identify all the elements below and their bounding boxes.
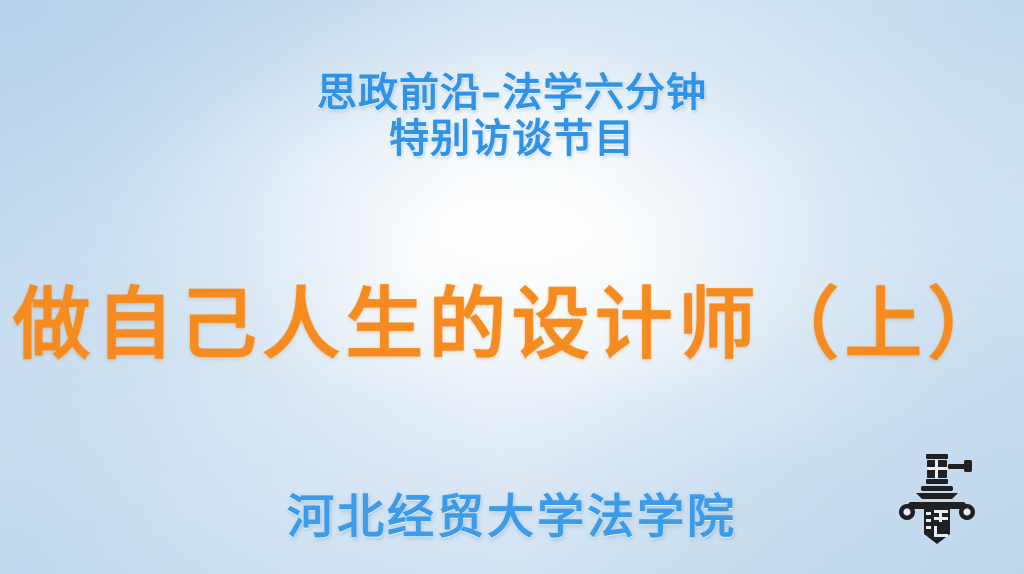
slide-content: 思政前沿–法学六分钟 特别访谈节目 做自己人生的设计师（上） 河北经贸大学法学院 (0, 0, 1024, 574)
title-slide: 思政前沿–法学六分钟 特别访谈节目 做自己人生的设计师（上） 河北经贸大学法学院 (0, 0, 1024, 574)
gavel-law-logo-icon (896, 446, 978, 546)
program-header-line-2: 特别访谈节目 (0, 116, 1024, 162)
program-header-line-1: 思政前沿–法学六分钟 (0, 70, 1024, 116)
program-header: 思政前沿–法学六分钟 特别访谈节目 (0, 70, 1024, 163)
institution-name: 河北经贸大学法学院 (0, 478, 1024, 547)
main-title: 做自己人生的设计师（上） (5, 262, 1019, 374)
